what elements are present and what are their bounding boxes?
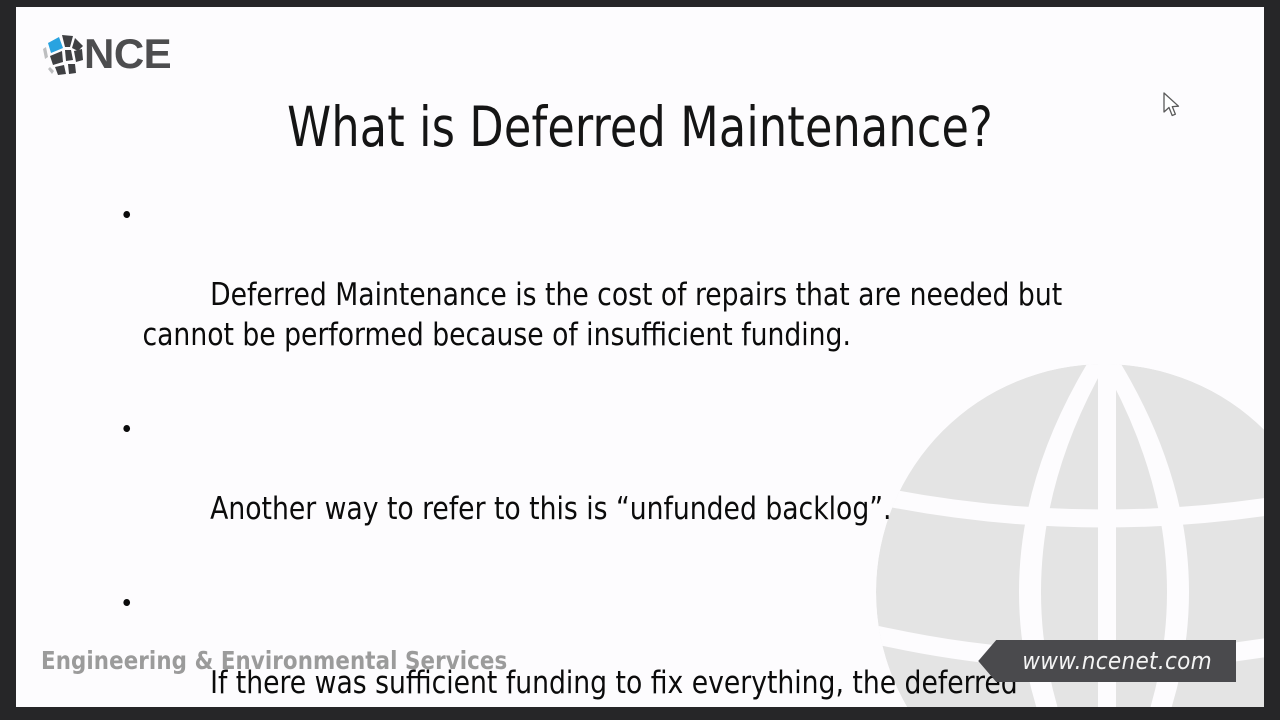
bullet-dot-icon: [123, 211, 130, 218]
bullet-list: Deferred Maintenance is the cost of repa…: [110, 195, 1120, 707]
list-item-text: Another way to refer to this is “unfunde…: [210, 491, 891, 527]
list-item: Another way to refer to this is “unfunde…: [110, 409, 1075, 569]
nce-logo: NCE: [40, 29, 171, 79]
page-title: What is Deferred Maintenance?: [78, 95, 1201, 159]
list-item-text: Deferred Maintenance is the cost of repa…: [142, 277, 1070, 353]
bullet-dot-icon: [123, 425, 130, 432]
list-item: If there was sufficient funding to fix e…: [110, 583, 1075, 707]
website-url-banner[interactable]: www.ncenet.com: [978, 640, 1236, 682]
footer-tagline: Engineering & Environmental Services: [41, 646, 507, 675]
presentation-viewport: NCE What is Deferred Maintenance? Deferr…: [0, 0, 1280, 720]
slide-canvas[interactable]: NCE What is Deferred Maintenance? Deferr…: [16, 7, 1264, 707]
globe-polygon-icon: [40, 29, 86, 79]
nce-wordmark: NCE: [84, 33, 171, 75]
bullet-dot-icon: [123, 599, 130, 606]
list-item: Deferred Maintenance is the cost of repa…: [110, 195, 1075, 395]
